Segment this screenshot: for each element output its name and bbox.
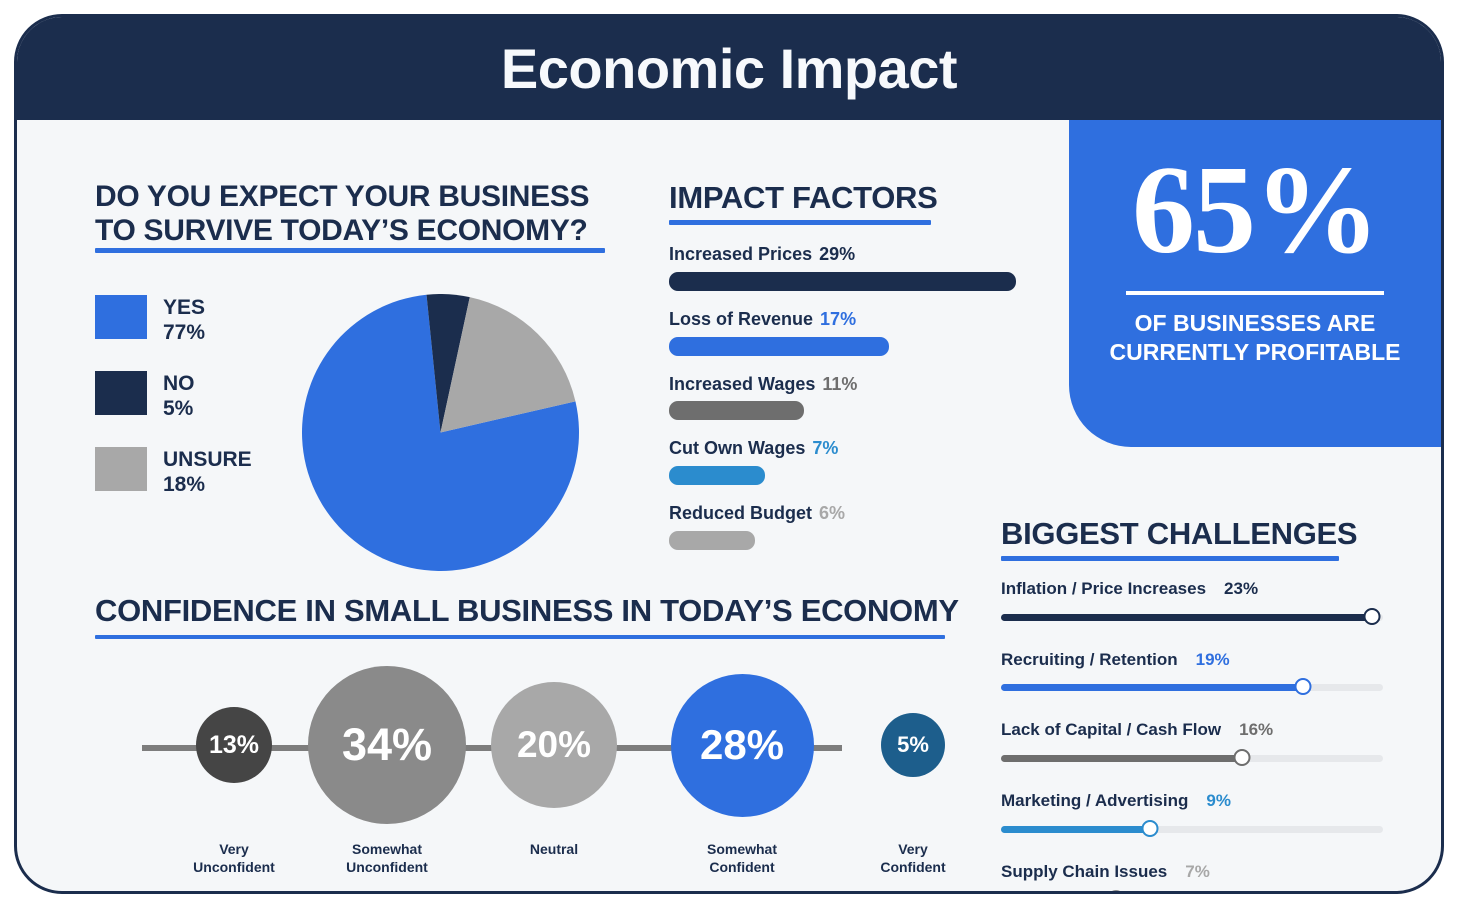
confidence-caption: SomewhatUnconfident: [307, 841, 467, 876]
confidence-caption-line1: Very: [833, 841, 993, 859]
impact-factor-bar: [669, 466, 765, 485]
challenge-slider[interactable]: [1001, 890, 1383, 894]
slider-knob[interactable]: [1233, 749, 1250, 766]
impact-factor-value: 29%: [819, 244, 855, 264]
challenge-name: Lack of Capital / Cash Flow: [1001, 720, 1221, 739]
impact-factor-value: 7%: [812, 438, 838, 458]
challenge-name: Marketing / Advertising: [1001, 791, 1188, 810]
confidence-heading: Confidence in small business in today’s …: [95, 594, 959, 629]
confidence-value: 5%: [897, 732, 929, 758]
confidence-bubble: 34%: [308, 666, 466, 824]
confidence-node: 5%VeryConfident: [881, 713, 945, 777]
impact-factor-name: Increased Wages: [669, 374, 815, 394]
confidence-caption-line1: Somewhat: [662, 841, 822, 859]
challenge-name: Inflation / Price Increases: [1001, 579, 1206, 598]
legend-swatch-icon: [95, 371, 147, 415]
confidence-value: 34%: [342, 719, 432, 771]
challenge-label: Lack of Capital / Cash Flow16%: [1001, 721, 1383, 740]
pie-legend: YES77%NO5%UNSURE18%: [95, 295, 315, 523]
confidence-node: 13%VeryUnconfident: [196, 707, 272, 783]
legend-swatch-icon: [95, 447, 147, 491]
challenge-value: 19%: [1196, 650, 1230, 669]
challenge-slider[interactable]: [1001, 678, 1383, 696]
profitable-caption-line1: OF BUSINESSES ARE: [1110, 309, 1401, 338]
challenge-row: Lack of Capital / Cash Flow16%: [1001, 721, 1383, 767]
challenge-row: Supply Chain Issues7%: [1001, 863, 1383, 894]
confidence-caption-line1: Somewhat: [307, 841, 467, 859]
legend-label-text: NO: [163, 372, 195, 397]
confidence-value: 28%: [700, 721, 784, 769]
legend-label-value: 18%: [163, 473, 252, 498]
impact-factors-heading: Impact Factors: [669, 181, 938, 216]
confidence-node: 20%Neutral: [491, 682, 617, 808]
legend-label-value: 77%: [163, 321, 205, 346]
confidence-caption: Neutral: [474, 841, 634, 859]
impact-factor-name: Increased Prices: [669, 244, 812, 264]
impact-factor-row: Reduced Budget6%: [669, 504, 1039, 550]
challenge-value: 9%: [1206, 791, 1231, 810]
impact-factor-label: Loss of Revenue17%: [669, 310, 1039, 330]
impact-factor-label: Reduced Budget6%: [669, 504, 1039, 524]
challenges-heading: Biggest Challenges: [1001, 517, 1357, 552]
impact-factors-list: Increased Prices29%Loss of Revenue17%Inc…: [669, 245, 1039, 569]
challenge-label: Inflation / Price Increases23%: [1001, 580, 1383, 599]
slider-knob[interactable]: [1141, 820, 1158, 837]
impact-factor-value: 6%: [819, 503, 845, 523]
legend-label: YES77%: [163, 295, 205, 346]
header-bar: Economic Impact: [17, 17, 1441, 120]
confidence-caption-line2: Confident: [833, 859, 993, 877]
challenge-slider[interactable]: [1001, 749, 1383, 767]
profitable-percent: 65%: [1132, 148, 1378, 274]
impact-factor-value: 11%: [822, 374, 857, 394]
challenge-name: Supply Chain Issues: [1001, 862, 1167, 881]
challenge-label: Marketing / Advertising9%: [1001, 792, 1383, 811]
impact-factor-name: Cut Own Wages: [669, 438, 805, 458]
confidence-value: 20%: [517, 724, 591, 766]
impact-factor-row: Increased Prices29%: [669, 245, 1039, 291]
challenge-row: Inflation / Price Increases23%: [1001, 580, 1383, 626]
confidence-caption: VeryUnconfident: [154, 841, 314, 876]
profitable-kpi-panel: 65% OF BUSINESSES ARE CURRENTLY PROFITAB…: [1069, 120, 1441, 447]
slider-fill: [1001, 614, 1372, 621]
confidence-caption-line2: Unconfident: [307, 859, 467, 877]
impact-factor-bar: [669, 401, 804, 420]
challenge-label: Recruiting / Retention19%: [1001, 651, 1383, 670]
challenge-slider[interactable]: [1001, 608, 1383, 626]
survival-pie-chart: [302, 294, 579, 571]
profitable-caption: OF BUSINESSES ARE CURRENTLY PROFITABLE: [1110, 309, 1401, 368]
confidence-caption-line2: Confident: [662, 859, 822, 877]
confidence-node: 34%SomewhatUnconfident: [308, 666, 466, 824]
legend-swatch-icon: [95, 295, 147, 339]
confidence-bubble: 5%: [881, 713, 945, 777]
impact-factor-name: Loss of Revenue: [669, 309, 813, 329]
impact-factor-bar: [669, 272, 1016, 291]
impact-factor-row: Loss of Revenue17%: [669, 310, 1039, 356]
pie-svg: [302, 294, 579, 571]
legend-item: UNSURE18%: [95, 447, 315, 501]
confidence-bubble: 20%: [491, 682, 617, 808]
impact-factor-label: Increased Wages11%: [669, 375, 1039, 395]
confidence-bubble: 13%: [196, 707, 272, 783]
confidence-node: 28%SomewhatConfident: [671, 674, 814, 817]
legend-label-value: 5%: [163, 397, 195, 422]
legend-item: NO5%: [95, 371, 315, 425]
profitable-caption-line2: CURRENTLY PROFITABLE: [1110, 338, 1401, 367]
legend-label: NO5%: [163, 371, 195, 422]
profitable-divider: [1126, 291, 1384, 295]
challenge-row: Recruiting / Retention19%: [1001, 651, 1383, 697]
challenge-value: 16%: [1239, 720, 1273, 739]
legend-label-text: UNSURE: [163, 448, 252, 473]
confidence-caption-line1: Very: [154, 841, 314, 859]
confidence-heading-rule: [95, 635, 945, 639]
confidence-caption: SomewhatConfident: [662, 841, 822, 876]
challenge-row: Marketing / Advertising9%: [1001, 792, 1383, 838]
impact-factor-name: Reduced Budget: [669, 503, 812, 523]
infographic-card: Economic Impact Do you expect your busin…: [14, 14, 1444, 894]
impact-factor-row: Increased Wages11%: [669, 375, 1039, 421]
challenges-heading-rule: [1001, 556, 1339, 561]
confidence-bubble: 28%: [671, 674, 814, 817]
survival-heading: Do you expect your business to survive t…: [95, 180, 635, 247]
impact-factor-label: Increased Prices29%: [669, 245, 1039, 265]
slider-knob[interactable]: [1107, 890, 1124, 894]
slider-knob[interactable]: [1294, 678, 1311, 695]
challenge-label: Supply Chain Issues7%: [1001, 863, 1383, 882]
legend-label-text: YES: [163, 296, 205, 321]
impact-factor-value: 17%: [820, 309, 856, 329]
challenges-list: Inflation / Price Increases23%Recruiting…: [1001, 580, 1383, 894]
confidence-value: 13%: [209, 731, 259, 760]
survival-heading-rule: [95, 248, 605, 253]
impact-factor-label: Cut Own Wages7%: [669, 439, 1039, 459]
legend-item: YES77%: [95, 295, 315, 349]
challenge-value: 23%: [1224, 579, 1258, 598]
confidence-caption: VeryConfident: [833, 841, 993, 876]
challenge-name: Recruiting / Retention: [1001, 650, 1178, 669]
confidence-caption-line1: Neutral: [474, 841, 634, 859]
impact-factor-row: Cut Own Wages7%: [669, 439, 1039, 485]
impact-factors-heading-rule: [669, 220, 931, 225]
page-title: Economic Impact: [501, 41, 957, 97]
legend-label: UNSURE18%: [163, 447, 252, 498]
confidence-bubble-chart: 13%VeryUnconfident34%SomewhatUnconfident…: [95, 657, 955, 887]
slider-fill: [1001, 755, 1242, 762]
confidence-caption-line2: Unconfident: [154, 859, 314, 877]
impact-factor-bar: [669, 337, 889, 356]
impact-factor-bar: [669, 531, 755, 550]
slider-fill: [1001, 826, 1150, 833]
challenge-slider[interactable]: [1001, 820, 1383, 838]
slider-fill: [1001, 684, 1303, 691]
slider-knob[interactable]: [1363, 608, 1380, 625]
challenge-value: 7%: [1185, 862, 1210, 881]
